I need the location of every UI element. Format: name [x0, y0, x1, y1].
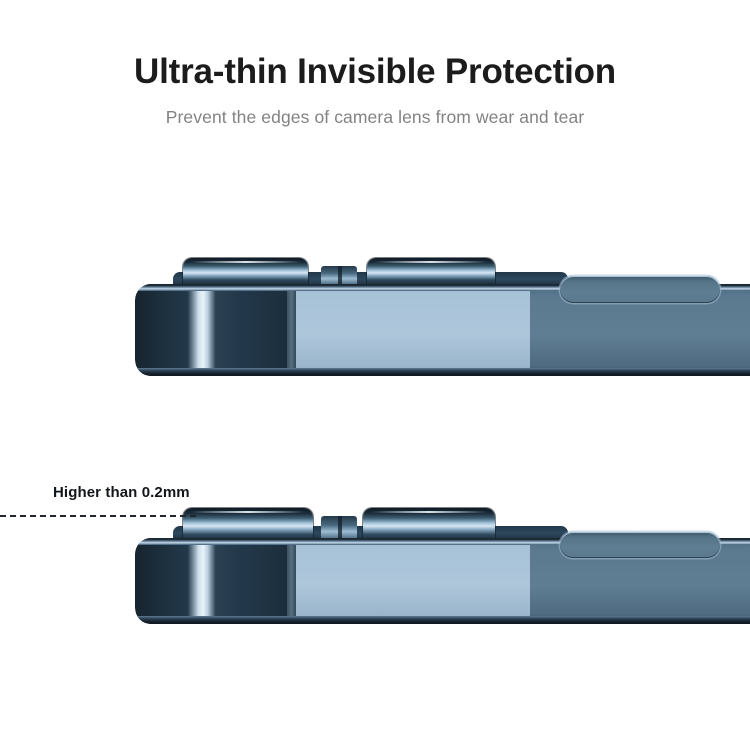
- camera-lens-ring-2: [367, 258, 495, 286]
- measurement-dashed-line: [0, 515, 196, 517]
- page-subtitle: Prevent the edges of camera lens from we…: [0, 92, 750, 128]
- side-button: [560, 532, 720, 558]
- phone-left-end-cap: [135, 284, 290, 376]
- page-title: Ultra-thin Invisible Protection: [0, 0, 750, 92]
- side-button: [560, 276, 720, 303]
- phone-bottom-rim: [135, 616, 750, 624]
- phone-left-end-cap: [135, 538, 290, 624]
- camera-lens-ring-2: [363, 508, 495, 542]
- camera-lens-ring-1: [183, 508, 313, 542]
- phone-without-protector: [135, 248, 750, 376]
- phone-body-midsection: [285, 538, 545, 624]
- header: Ultra-thin Invisible Protection Prevent …: [0, 0, 750, 128]
- antenna-band: [287, 538, 296, 624]
- camera-lens-ring-1: [183, 258, 308, 286]
- phone-body-midsection: [285, 284, 545, 376]
- antenna-band: [287, 284, 296, 376]
- product-feature-image: { "header": { "headline": "Ultra-thin In…: [0, 0, 750, 750]
- phone-with-protector: [135, 506, 750, 624]
- measurement-label: Higher than 0.2mm: [53, 484, 190, 501]
- phone-bottom-rim: [135, 368, 750, 376]
